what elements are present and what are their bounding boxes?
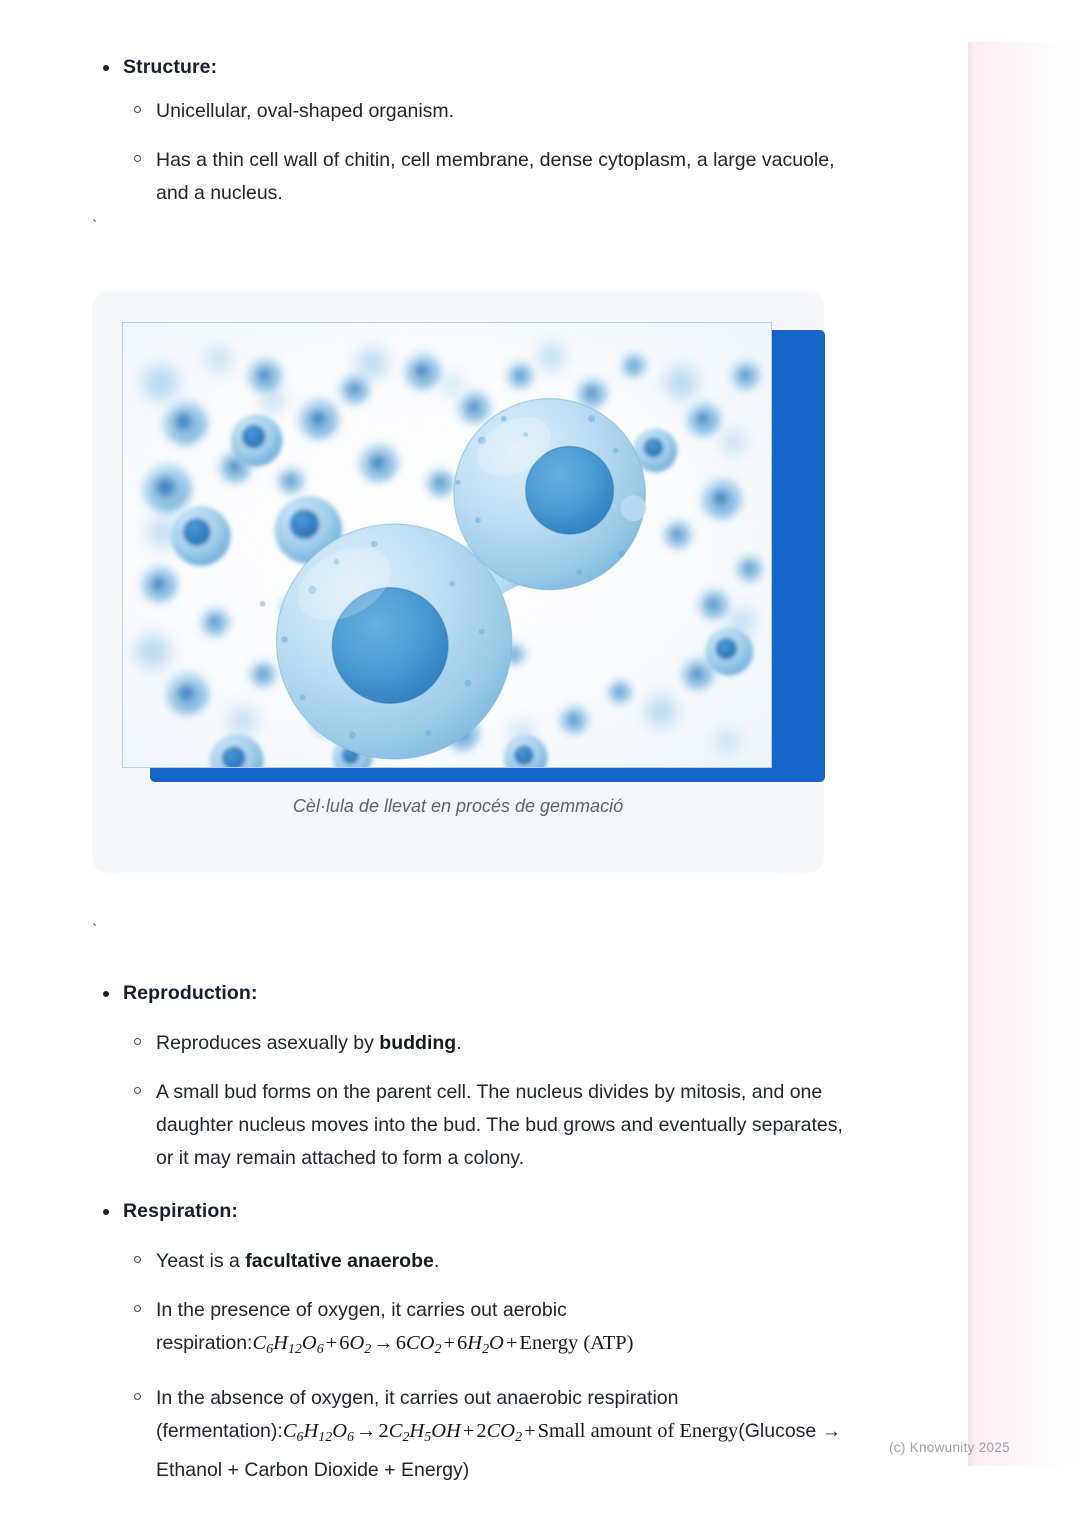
figure-frame [122, 322, 797, 774]
stray-backtick-glyph: ` [90, 218, 99, 235]
bullet-text: Has a thin cell wall of chitin, cell mem… [156, 149, 835, 204]
section-respiration: Respiration: Yeast is a facultative anae… [0, 1200, 920, 1487]
bullet-circle-icon [134, 106, 141, 113]
bullet-disc-icon [103, 65, 109, 71]
section-heading-reproduction: Reproduction: [0, 982, 920, 1005]
bullet-list-level1: Reproduction: Reproduces asexually by bu… [0, 982, 920, 1175]
bullet-circle-icon [134, 1087, 141, 1094]
yeast-budding-micrograph-icon [123, 323, 771, 767]
bullet-list-level1: Structure: Unicellular, oval-shaped orga… [0, 56, 920, 210]
bullet-text: A small bud forms on the parent cell. Th… [156, 1081, 843, 1169]
section-heading-label: Reproduction: [123, 982, 258, 1004]
bullet-text: Unicellular, oval-shaped organism. [156, 100, 454, 122]
bullet-disc-icon [103, 1209, 109, 1215]
page-side-stripe [968, 42, 1080, 1466]
list-item: Reproduces asexually by budding. [0, 1027, 920, 1060]
bullet-list-level2: Reproduces asexually by budding. A small… [0, 1027, 920, 1175]
list-item: Yeast is a facultative anaerobe. [0, 1245, 920, 1278]
stray-backtick-mark: ` [0, 220, 1010, 234]
bullet-circle-icon [134, 1305, 141, 1312]
bullet-circle-icon [134, 1256, 141, 1263]
section-structure: Structure: Unicellular, oval-shaped orga… [0, 56, 920, 210]
bullet-circle-icon [134, 1393, 141, 1400]
list-item: Respiration: Yeast is a facultative anae… [0, 1200, 920, 1487]
bullet-list-level2: Yeast is a facultative anaerobe. In the … [0, 1245, 920, 1487]
bullet-text-suffix: . [434, 1250, 439, 1272]
stray-backtick-glyph: ` [90, 922, 99, 939]
bullet-text-prefix: Reproduces asexually by [156, 1032, 379, 1054]
section-heading-structure: Structure: [0, 56, 920, 79]
list-item: Structure: Unicellular, oval-shaped orga… [0, 56, 920, 210]
list-item: Reproduction: Reproduces asexually by bu… [0, 982, 920, 1175]
list-item: Unicellular, oval-shaped organism. [0, 95, 920, 128]
section-reproduction: Reproduction: Reproduces asexually by bu… [0, 982, 920, 1175]
section-heading-respiration: Respiration: [0, 1200, 920, 1223]
list-item: In the absence of oxygen, it carries out… [0, 1382, 872, 1487]
bullet-circle-icon [134, 155, 141, 162]
list-item: A small bud forms on the parent cell. Th… [0, 1076, 856, 1175]
bullet-list-level2: Unicellular, oval-shaped organism. Has a… [0, 95, 920, 210]
bullet-text-emphasis: budding [379, 1032, 456, 1054]
bullet-text-emphasis: facultative anaerobe [245, 1250, 434, 1272]
section-heading-label: Respiration: [123, 1200, 238, 1222]
aerobic-respiration-formula: C6H12O6+6O2→6CO2+6H2O+Energy (ATP) [252, 1332, 633, 1354]
bullet-disc-icon [103, 991, 109, 997]
bullet-list-level1: Respiration: Yeast is a facultative anae… [0, 1200, 920, 1487]
list-item: Has a thin cell wall of chitin, cell mem… [0, 144, 856, 210]
anaerobic-fermentation-formula: C6H12O6→2C2H5OH+2CO2+Small amount of Ene… [283, 1420, 738, 1442]
bullet-text-prefix: Yeast is a [156, 1250, 245, 1272]
stray-backtick-mark: ` [0, 924, 1010, 938]
copyright-watermark: (c) Knowunity 2025 [889, 1440, 1010, 1455]
figure-image-container [122, 322, 772, 768]
section-heading-label: Structure: [123, 56, 217, 78]
bullet-text-suffix: . [456, 1032, 461, 1054]
list-item: In the presence of oxygen, it carries ou… [0, 1294, 862, 1366]
figure-card: Cèl·lula de llevat en procés de gemmació [93, 292, 823, 872]
bullet-circle-icon [134, 1038, 141, 1045]
figure-caption: Cèl·lula de llevat en procés de gemmació [93, 796, 823, 817]
